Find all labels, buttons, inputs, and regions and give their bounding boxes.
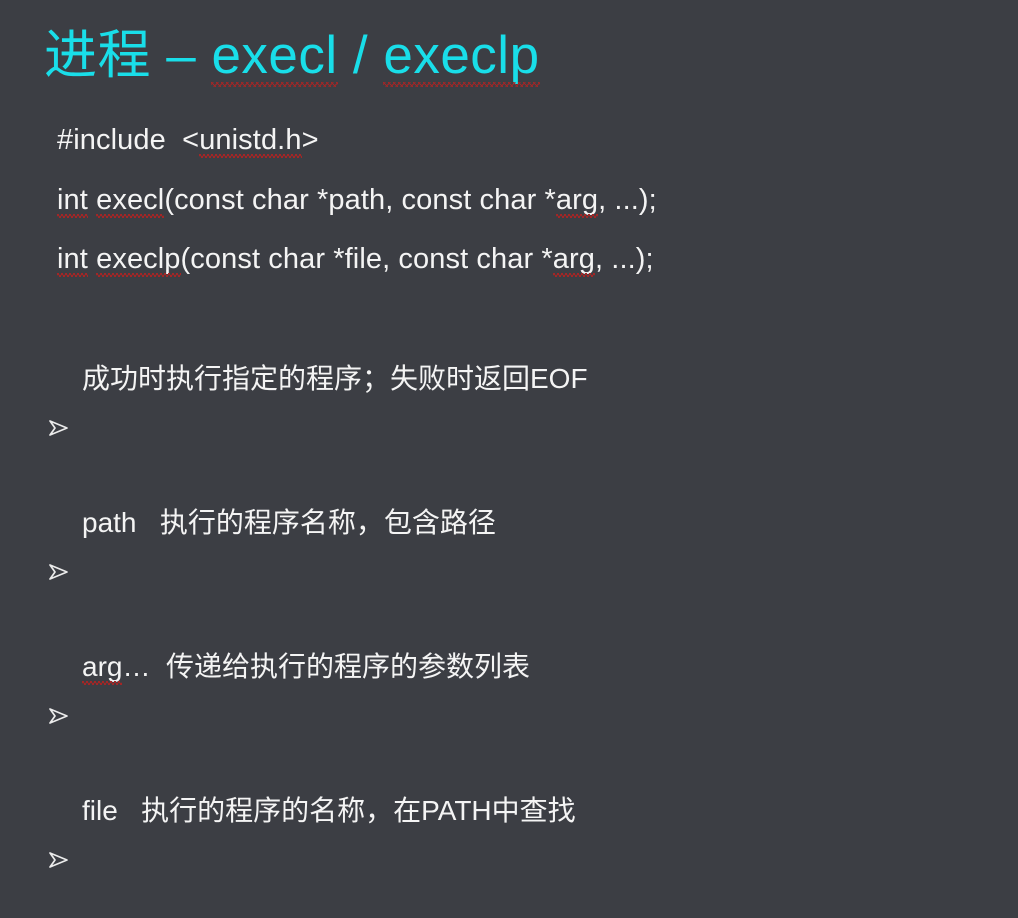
- include-prefix: #include <: [57, 124, 199, 156]
- title-prefix: 进程 –: [44, 26, 211, 85]
- arrowhead-bullet-icon: [48, 799, 82, 916]
- list-item-misspelled-term: arg: [82, 652, 122, 682]
- code-line-execlp-prototype: int execlp(const char *file, const char …: [57, 245, 957, 274]
- title-term-execlp: execlp: [383, 26, 539, 85]
- execl-arg-param: arg: [556, 186, 598, 215]
- execl-params-suffix: , ...);: [598, 184, 657, 216]
- arrowhead-bullet-icon: [48, 367, 82, 484]
- list-item: file 执行的程序的名称，在PATH中查找: [48, 796, 978, 918]
- include-header-name: unistd.h: [199, 126, 301, 155]
- code-line-include: #include <unistd.h>: [57, 126, 957, 155]
- list-item: path 执行的程序名称，包含路径: [48, 508, 978, 630]
- code-block: #include <unistd.h> int execl(const char…: [57, 126, 957, 274]
- title-separator: /: [338, 26, 384, 85]
- list-item: 成功时执行指定的程序；失败时返回EOF: [48, 364, 978, 486]
- list-item-label: path 执行的程序名称，包含路径: [82, 508, 496, 538]
- list-item-label: 成功时执行指定的程序；失败时返回EOF: [82, 364, 588, 394]
- list-item: arg… 传递给执行的程序的参数列表: [48, 652, 978, 774]
- code-line-execl-prototype: int execl(const char *path, const char *…: [57, 186, 957, 215]
- execlp-arg-param: arg: [553, 245, 595, 274]
- list-item-label: arg… 传递给执行的程序的参数列表: [82, 652, 530, 682]
- execlp-function-name: execlp: [96, 245, 180, 274]
- slide-canvas: 进程 – execl / execlp #include <unistd.h> …: [0, 0, 1018, 607]
- slide-title: 进程 – execl / execlp: [44, 26, 540, 85]
- include-suffix: >: [302, 124, 319, 156]
- execl-return-type: int: [57, 186, 88, 215]
- arrowhead-bullet-icon: [48, 655, 82, 772]
- execl-function-name: execl: [96, 186, 164, 215]
- arrowhead-bullet-icon: [48, 511, 82, 628]
- list-item-label-tail: … 传递给执行的程序的参数列表: [122, 651, 530, 682]
- execlp-params-suffix: , ...);: [595, 243, 654, 275]
- execlp-params-mid: (const char *file, const char *: [181, 243, 553, 275]
- bullet-list: 成功时执行指定的程序；失败时返回EOF path 执行的程序名称，包含路径 ar…: [48, 364, 978, 918]
- execlp-return-type: int: [57, 245, 88, 274]
- execlp-space: [88, 243, 96, 275]
- list-item-label: file 执行的程序的名称，在PATH中查找: [82, 796, 576, 826]
- title-term-execl: execl: [211, 26, 337, 85]
- execl-space: [88, 184, 96, 216]
- execl-params-mid: (const char *path, const char *: [164, 184, 556, 216]
